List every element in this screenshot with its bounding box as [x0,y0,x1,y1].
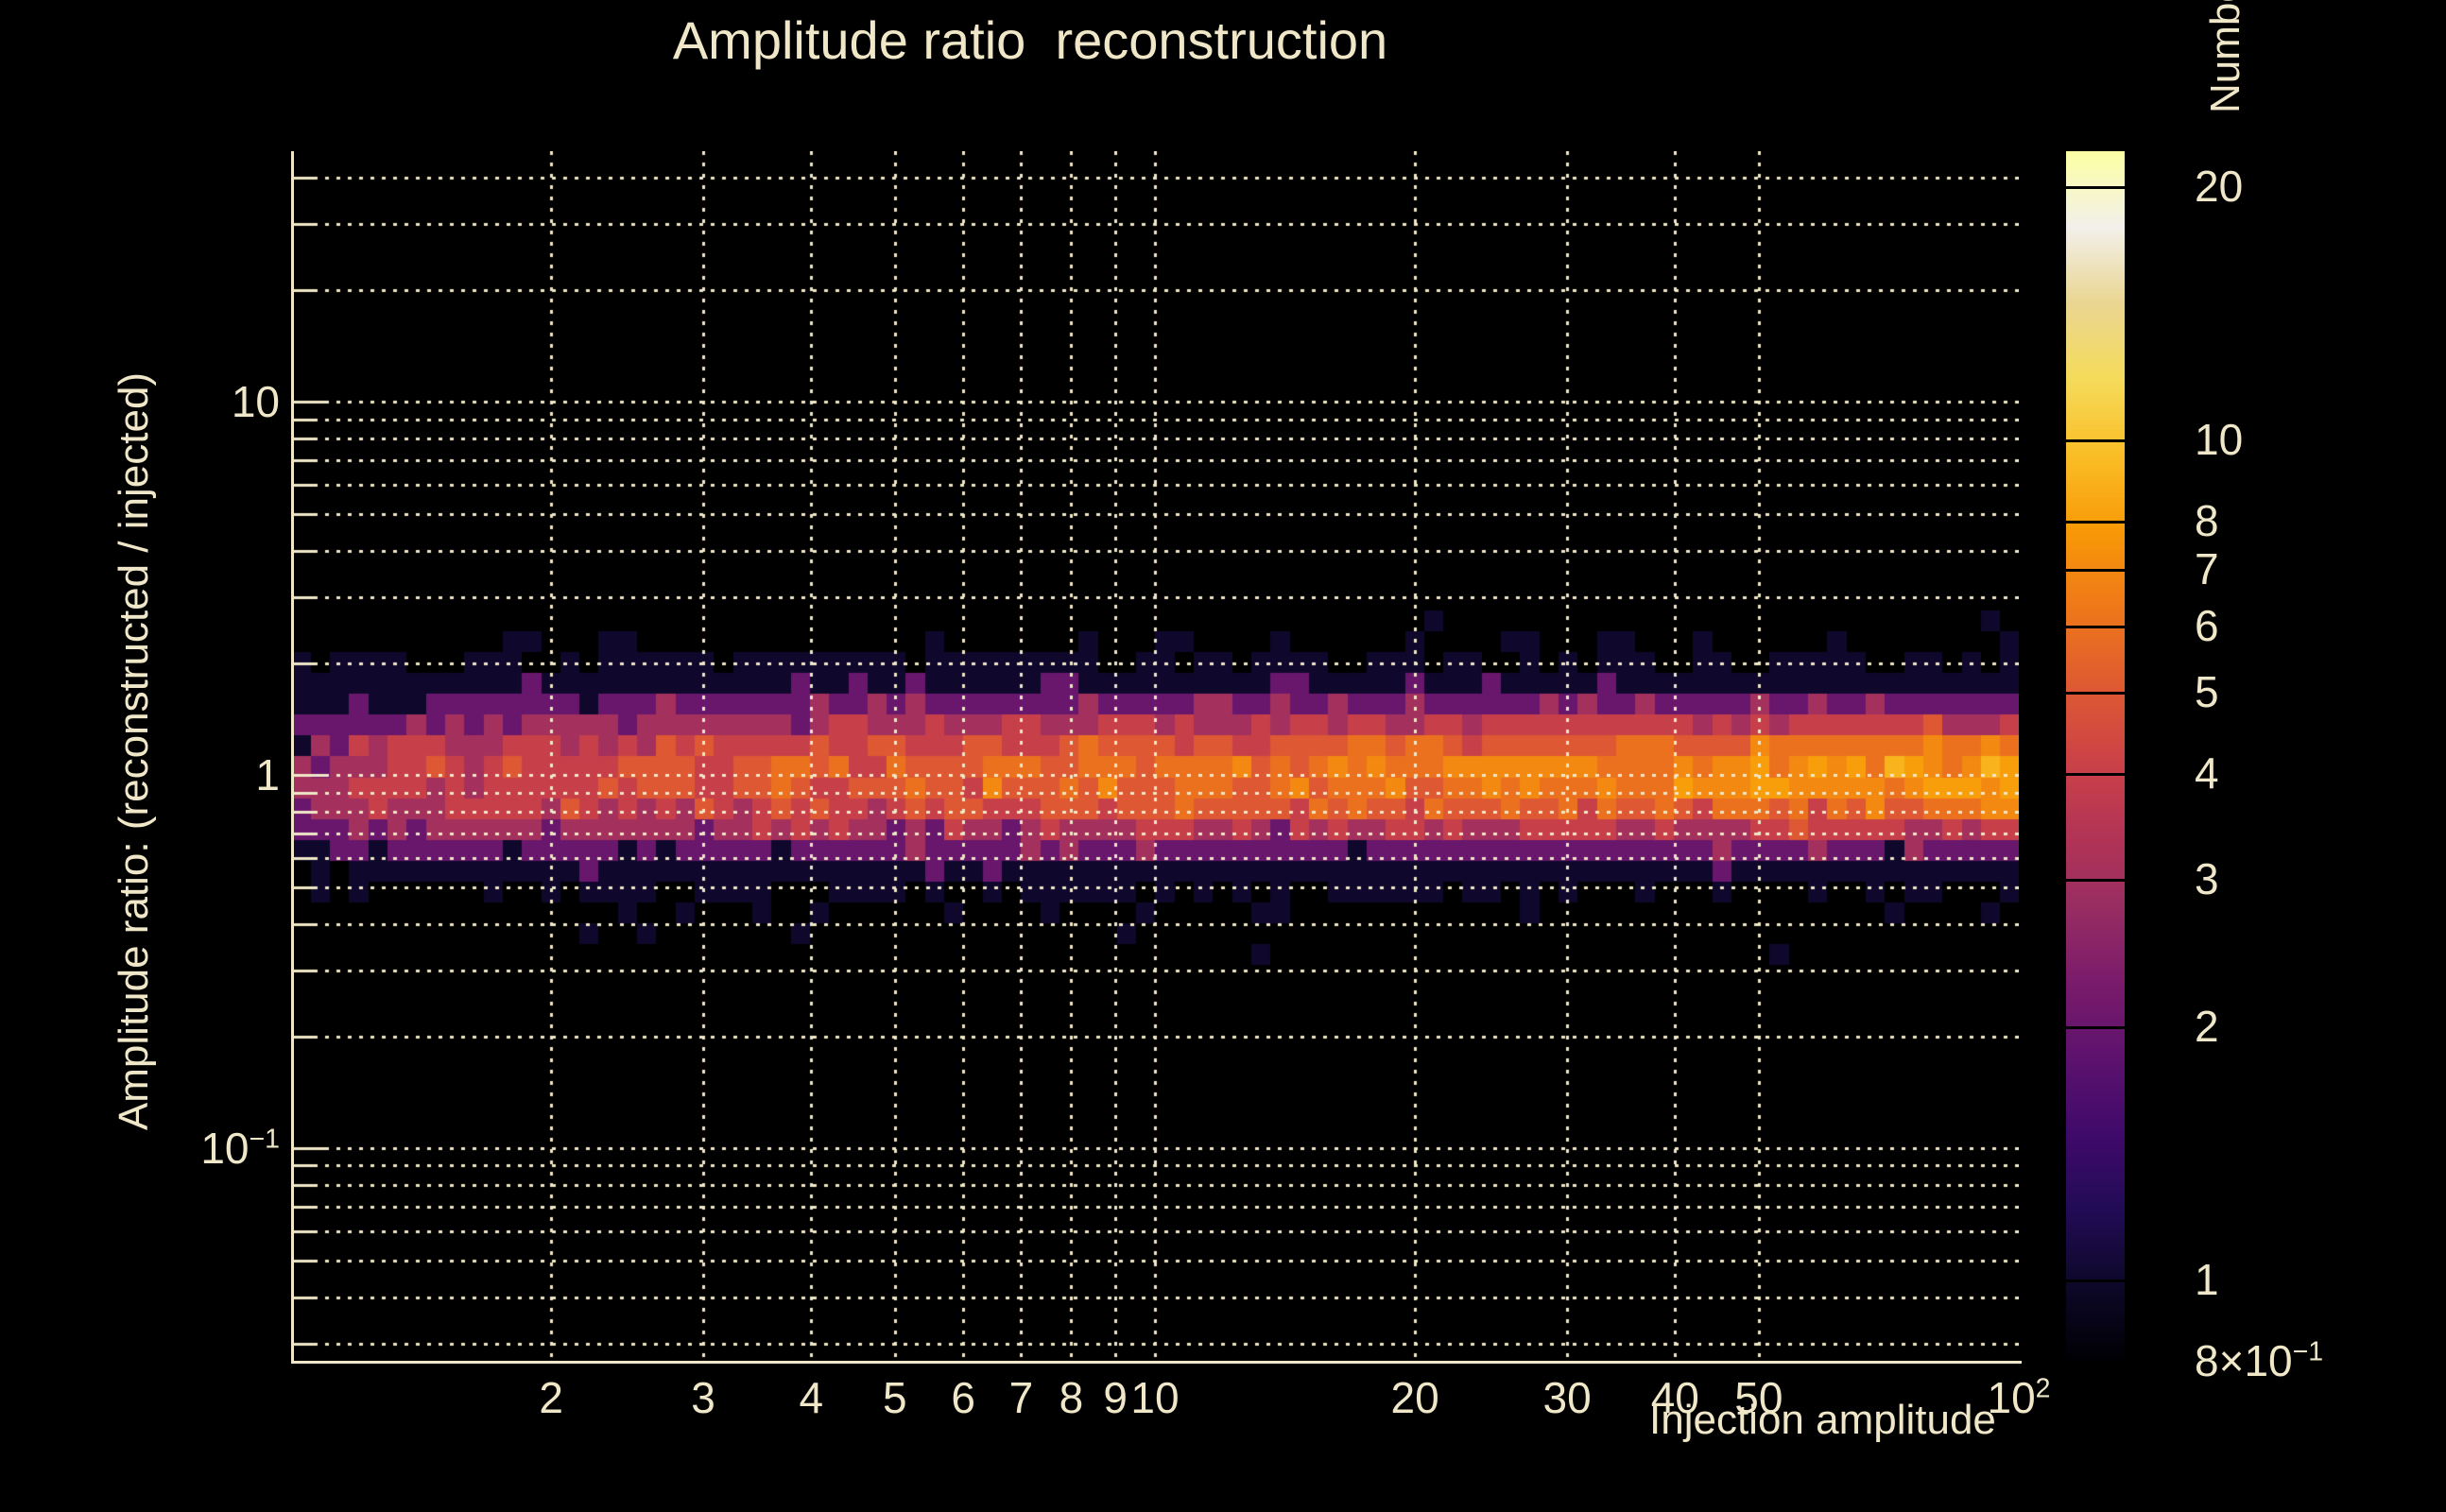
heatmap-canvas [291,151,2019,1361]
colorbar-tick-label: 3 [2195,853,2219,904]
heatmap-area [291,151,2019,1361]
colorbar-tick [2066,879,2125,882]
colorbar-tick [2066,1026,2125,1029]
y-tick-label: 10 [232,376,280,427]
x-tick-label: 3 [691,1372,715,1423]
colorbar-title: Number of injections [2202,0,2249,113]
colorbar-tick [2066,626,2125,628]
x-tick-label: 50 [1734,1372,1783,1423]
colorbar-tick-label: 6 [2195,600,2219,651]
y-tick-label: 10−1 [200,1123,280,1174]
x-tick-label: 40 [1651,1372,1699,1423]
colorbar-tick [2066,1280,2125,1282]
x-tick-label: 4 [799,1372,823,1423]
colorbar-gradient [2066,151,2125,1361]
colorbar-tick-label: 7 [2195,543,2219,594]
colorbar-tick-label: 8 [2195,495,2219,546]
colorbar-tick-label: 5 [2195,666,2219,717]
x-tick-label: 2 [539,1372,563,1423]
x-tick-label: 5 [883,1372,907,1423]
colorbar-tick [2066,521,2125,524]
page-title: Amplitude ratio reconstruction [0,9,2060,71]
y-axis-title: Amplitude ratio: (reconstructed / inject… [111,194,158,1309]
colorbar-tick-label: 1 [2195,1254,2219,1305]
colorbar-tick-label: 2 [2195,1001,2219,1052]
x-tick-label: 102 [1987,1372,2050,1423]
colorbar-tick-label: 20 [2195,161,2243,212]
x-tick-label: 10 [1130,1372,1179,1423]
colorbar-tick-label: 4 [2195,747,2219,799]
x-tick-label: 9 [1103,1372,1128,1423]
colorbar-tick-label: 10 [2195,414,2243,465]
colorbar [2066,151,2125,1361]
colorbar-tick [2066,773,2125,776]
x-tick-label: 7 [1009,1372,1034,1423]
colorbar-tick [2066,439,2125,442]
x-axis-title: Injection amplitude [1649,1397,1996,1444]
colorbar-tick [2066,569,2125,572]
x-tick-label: 6 [951,1372,975,1423]
colorbar-tick [2066,692,2125,695]
colorbar-tick [2066,186,2125,189]
x-tick-label: 30 [1542,1372,1591,1423]
plot-root: Amplitude ratio reconstruction 10−1110 A… [0,0,2446,1512]
colorbar-tick-label: 8×10−1 [2195,1335,2323,1386]
y-tick-label: 1 [255,749,280,800]
x-tick-label: 20 [1391,1372,1439,1423]
x-tick-label: 8 [1059,1372,1084,1423]
